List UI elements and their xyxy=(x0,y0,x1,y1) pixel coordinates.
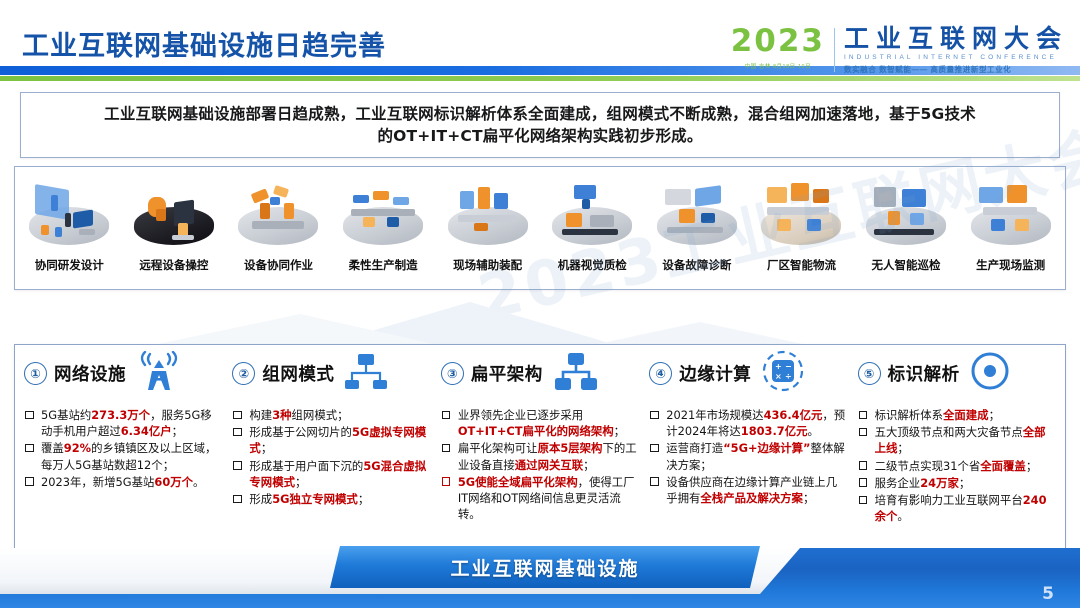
column-title: 扁平架构 xyxy=(471,361,543,386)
logo-divider xyxy=(834,28,835,72)
bullet-highlight: 原本5层架构 xyxy=(538,441,603,455)
conference-logo: 2023 中国·吉林 8月18日-19日 工业互联网大会 INDUSTRIAL … xyxy=(731,26,1068,78)
statement-box: 工业互联网基础设施部署日趋成熟，工业互联网标识解析体系全面建成，组网模式不断成熟… xyxy=(20,92,1060,158)
bullet-text: ； xyxy=(897,441,908,455)
bullet-highlight: OT+IT+CT扁平化的网络架构 xyxy=(458,424,614,438)
column-title: 组网模式 xyxy=(262,361,334,386)
bullet-highlight: 436.4亿元 xyxy=(764,408,823,422)
fault-diagnosis-illustration xyxy=(649,173,745,251)
robot-collab-illustration xyxy=(230,173,326,251)
column-number: ③ xyxy=(441,362,464,385)
column-title: 网络设施 xyxy=(54,361,126,386)
column-title: 边缘计算 xyxy=(679,361,751,386)
bullet-text: 5G基站约 xyxy=(41,408,91,422)
bullet-highlight: 273.3万个 xyxy=(91,408,150,422)
bullet-list: 标识解析体系全面建成；五大顶级节点和两大灾备节点全部上线；二级节点实现31个省全… xyxy=(858,407,1056,524)
bullet-highlight: 24万家 xyxy=(920,476,959,490)
bullet-text: 形成基于用户面下沉的 xyxy=(249,459,363,473)
bullet-item: 形成基于用户面下沉的5G混合虚拟专网模式； xyxy=(232,458,430,490)
bullet-highlight: 全面建成 xyxy=(943,408,989,422)
bullet-item: 形成基于公网切片的5G虚拟专网模式； xyxy=(232,424,430,456)
bullet-text: 二级节点实现31个省 xyxy=(875,459,981,473)
network-mode-icon xyxy=(344,352,388,390)
logo-tagline: 数实融合 数智赋能—— 高质量推进新型工业化 xyxy=(844,64,1068,75)
bullet-item: 业界领先企业已逐步采用OT+IT+CT扁平化的网络架构； xyxy=(441,407,639,439)
bullet-item: 2021年市场规模达436.4亿元，预计2024年将达1803.7亿元。 xyxy=(649,407,847,439)
scenario-label: 无人智能巡检 xyxy=(872,257,941,273)
bullet-text: ； xyxy=(989,408,1000,422)
bullet-list: 业界领先企业已逐步采用OT+IT+CT扁平化的网络架构；扁平化架构可让原本5层架… xyxy=(441,407,639,522)
scenario-item: 远程设备操控 xyxy=(122,173,227,273)
infrastructure-panel: ①网络设施 5G基站约273.3万个，服务5G移动手机用户超过6.34亿户；覆盖… xyxy=(14,344,1066,550)
cell-tower-icon xyxy=(136,351,182,396)
bullet-item: 设备供应商在边缘计算产业链上几乎拥有全栈产品及解决方案； xyxy=(649,474,847,506)
statement-line-1: 工业互联网基础设施部署日趋成熟，工业互联网标识解析体系全面建成，组网模式不断成熟… xyxy=(104,103,976,125)
bullet-text: 形成基于公网切片的 xyxy=(249,425,352,439)
bullet-highlight: 60万个 xyxy=(154,475,193,489)
bullet-highlight: 5G独立专网模式 xyxy=(272,492,358,506)
bullet-text: 2021年市场规模达 xyxy=(666,408,763,422)
bullet-highlight: 全面覆盖 xyxy=(980,459,1026,473)
remote-control-illustration xyxy=(126,173,222,251)
bullet-text: 。 xyxy=(808,424,819,438)
bullet-text: 服务企业 xyxy=(875,476,921,490)
column-header: ①网络设施 xyxy=(24,353,222,393)
bullet-item: 构建3种组网模式； xyxy=(232,407,430,423)
bullet-text: 业界领先企业已逐步采用 xyxy=(458,408,583,422)
scenario-label: 协同研发设计 xyxy=(35,257,104,273)
bullet-item: 扁平化架构可让原本5层架构下的工业设备直接通过网关互联； xyxy=(441,440,639,472)
scenario-label: 远程设备操控 xyxy=(139,257,208,273)
scenario-strip: 协同研发设计远程设备操控设备协同作业柔性生产制造现场辅助装配机器视觉质检设备故障… xyxy=(14,166,1066,290)
bullet-text: 五大顶级节点和两大灾备节点 xyxy=(875,425,1023,439)
network-mode-icon xyxy=(344,352,388,395)
bullet-text: ； xyxy=(295,475,306,489)
infrastructure-column: ⑤标识解析 标识解析体系全面建成；五大顶级节点和两大灾备节点全部上线；二级节点实… xyxy=(853,353,1061,545)
column-number: ② xyxy=(232,362,255,385)
logo-year-subtitle: 中国·吉林 8月18日-19日 xyxy=(745,62,812,70)
bullet-text: ； xyxy=(261,441,272,455)
column-header: ⑤标识解析 xyxy=(858,353,1056,393)
statement-line-2: 的OT+IT+CT扁平化网络架构实践初步形成。 xyxy=(377,125,702,147)
site-monitor-illustration xyxy=(963,173,1059,251)
svg-text:÷: ÷ xyxy=(785,372,792,381)
bullet-item: 五大顶级节点和两大灾备节点全部上线； xyxy=(858,424,1056,456)
scenario-item: 协同研发设计 xyxy=(17,173,122,273)
bullet-text: 覆盖 xyxy=(41,441,64,455)
infrastructure-column: ③扁平架构 业界领先企业已逐步采用OT+IT+CT扁平化的网络架构；扁平化架构可… xyxy=(436,353,644,545)
scenario-item: 设备故障诊断 xyxy=(645,173,750,273)
scenario-label: 设备故障诊断 xyxy=(662,257,731,273)
bullet-text: 运营商打造 xyxy=(666,441,723,455)
scenario-label: 生产现场监测 xyxy=(976,257,1045,273)
bullet-text: ； xyxy=(614,424,625,438)
bullet-highlight: “5G+边缘计算” xyxy=(723,441,810,455)
bullet-text: ； xyxy=(959,476,970,490)
bullet-text: 标识解析体系 xyxy=(875,408,943,422)
scenario-item: 设备协同作业 xyxy=(226,173,331,273)
bullet-item: 标识解析体系全面建成； xyxy=(858,407,1056,423)
column-number: ⑤ xyxy=(858,362,881,385)
bullet-item: 培育有影响力工业互联网平台240余个。 xyxy=(858,492,1056,524)
bullet-highlight: 92% xyxy=(64,441,91,455)
bullet-item: 覆盖92%的乡镇镇区及以上区域，每万人5G基站数超12个； xyxy=(24,440,222,472)
scenario-item: 生产现场监测 xyxy=(958,173,1063,273)
column-header: ②组网模式 xyxy=(232,353,430,393)
identifier-resolution-icon xyxy=(970,351,1010,396)
bullet-highlight: 3种 xyxy=(272,408,291,422)
bullet-item: 2023年，新增5G基站60万个。 xyxy=(24,474,222,490)
scenario-item: 现场辅助装配 xyxy=(435,173,540,273)
bullet-item: 二级节点实现31个省全面覆盖； xyxy=(858,458,1056,474)
edge-compute-icon: +− ×÷ xyxy=(761,350,805,397)
bullet-text: ； xyxy=(803,491,814,505)
edge-compute-icon: +− ×÷ xyxy=(761,350,805,392)
bullet-highlight: 通过网关互联 xyxy=(515,458,583,472)
identifier-resolution-icon xyxy=(970,351,1010,391)
bullet-text: 构建 xyxy=(249,408,272,422)
scenario-label: 设备协同作业 xyxy=(244,257,313,273)
infrastructure-column: ①网络设施 5G基站约273.3万个，服务5G移动手机用户超过6.34亿户；覆盖… xyxy=(19,353,227,545)
column-number: ① xyxy=(24,362,47,385)
bullet-list: 5G基站约273.3万个，服务5G移动手机用户超过6.34亿户；覆盖92%的乡镇… xyxy=(24,407,222,490)
column-header: ④边缘计算 +− ×÷ xyxy=(649,353,847,393)
hierarchy-icon xyxy=(553,352,599,395)
scenario-item: 机器视觉质检 xyxy=(540,173,645,273)
bullet-item: 运营商打造“5G+边缘计算”整体解决方案； xyxy=(649,440,847,472)
assist-assembly-illustration xyxy=(440,173,536,251)
bullet-highlight: 1803.7亿元 xyxy=(741,424,808,438)
bullet-highlight: 全栈产品及解决方案 xyxy=(700,491,803,505)
bullet-item: 形成5G独立专网模式； xyxy=(232,491,430,507)
bullet-item: 5G使能全域扁平化架构，使得工厂IT网络和OT网络间信息更灵活流转。 xyxy=(441,474,639,523)
bullet-text: 2023年，新增5G基站 xyxy=(41,475,154,489)
bullet-text: ； xyxy=(172,424,183,438)
bullet-text: 形成 xyxy=(249,492,272,506)
infrastructure-column: ②组网模式 构建3种组网模式；形成基于公网切片的5G虚拟专网模式；形成基于用户面… xyxy=(227,353,435,545)
bullet-text: 扁平化架构可让 xyxy=(458,441,538,455)
svg-text:−: − xyxy=(785,362,792,371)
page-number: 5 xyxy=(1042,584,1054,604)
bullet-highlight: 5G使能全域扁平化架构 xyxy=(458,475,578,489)
bullet-highlight: 6.34亿户 xyxy=(121,424,172,438)
bullet-text: ； xyxy=(1026,459,1037,473)
column-title: 标识解析 xyxy=(888,361,960,386)
bullet-text: 组网模式； xyxy=(292,408,349,422)
bottom-banner: 工业互联网基础设施 xyxy=(330,546,760,588)
bullet-item: 5G基站约273.3万个，服务5G移动手机用户超过6.34亿户； xyxy=(24,407,222,439)
scenario-label: 柔性生产制造 xyxy=(349,257,418,273)
bullet-item: 服务企业24万家； xyxy=(858,475,1056,491)
bullet-text: 培育有影响力工业互联网平台 xyxy=(875,493,1023,507)
hierarchy-icon xyxy=(553,352,599,390)
column-number: ④ xyxy=(649,362,672,385)
vr-design-illustration xyxy=(21,173,117,251)
bullet-text: 。 xyxy=(193,475,204,489)
logo-name-cn: 工业互联网大会 xyxy=(844,26,1068,51)
page-title: 工业互联网基础设施日趋完善 xyxy=(22,24,386,63)
scenario-label: 厂区智能物流 xyxy=(767,257,836,273)
logo-year: 2023 xyxy=(731,26,825,57)
column-header: ③扁平架构 xyxy=(441,353,639,393)
bullet-list: 构建3种组网模式；形成基于公网切片的5G虚拟专网模式；形成基于用户面下沉的5G混… xyxy=(232,407,430,507)
svg-text:×: × xyxy=(775,372,782,381)
bullet-text: 。 xyxy=(897,509,908,523)
infrastructure-column: ④边缘计算 +− ×÷ 2021年市场规模达436.4亿元，预计2024年将达1… xyxy=(644,353,852,545)
logo-name-en: INDUSTRIAL INTERNET CONFERENCE xyxy=(844,54,1068,61)
bullet-text: ； xyxy=(583,458,594,472)
scenario-item: 无人智能巡检 xyxy=(854,173,959,273)
auto-inspection-illustration xyxy=(858,173,954,251)
svg-text:+: + xyxy=(775,362,782,371)
flexible-line-illustration xyxy=(335,173,431,251)
smart-logistics-illustration xyxy=(753,173,849,251)
bullet-list: 2021年市场规模达436.4亿元，预计2024年将达1803.7亿元。运营商打… xyxy=(649,407,847,506)
cell-tower-icon xyxy=(136,351,182,391)
scenario-item: 厂区智能物流 xyxy=(749,173,854,273)
scenario-label: 机器视觉质检 xyxy=(558,257,627,273)
slide-root: 工业互联网基础设施日趋完善 2023 中国·吉林 8月18日-19日 工业互联网… xyxy=(0,0,1080,608)
scenario-item: 柔性生产制造 xyxy=(331,173,436,273)
scenario-label: 现场辅助装配 xyxy=(453,257,522,273)
machine-vision-illustration xyxy=(544,173,640,251)
bullet-text: ； xyxy=(358,492,369,506)
bottom-banner-label: 工业互联网基础设施 xyxy=(450,554,639,581)
